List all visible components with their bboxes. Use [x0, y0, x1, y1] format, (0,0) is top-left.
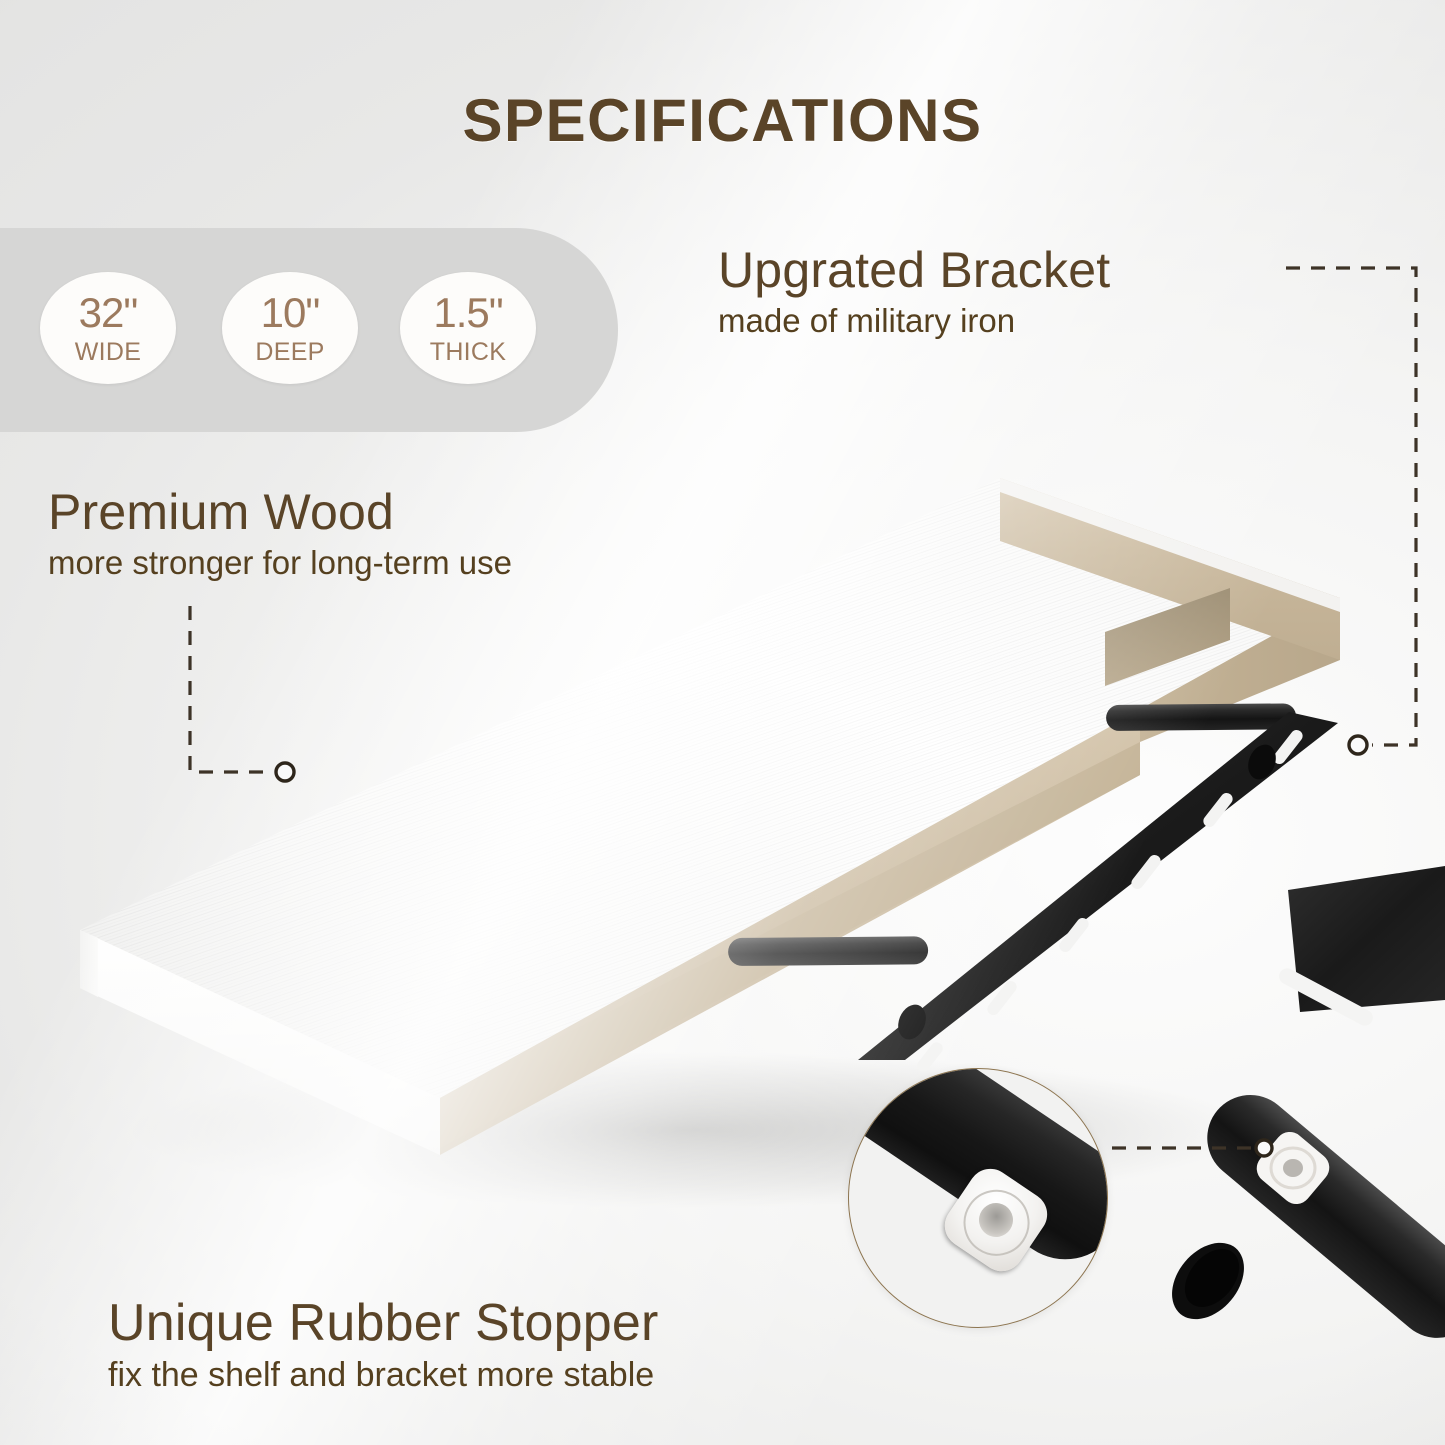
product-photo [0, 0, 1445, 1445]
spec-badge-value: 10" [261, 292, 320, 334]
callout-rubber-stopper: Unique Rubber Stopper fix the shelf and … [108, 1296, 659, 1395]
bracket-rod-lower [728, 936, 928, 966]
callout-upgraded-bracket: Upgrated Bracket made of military iron [718, 244, 1110, 340]
rubber-stopper-zoom-circle [848, 1068, 1108, 1328]
bracket-rod-upper [1106, 703, 1296, 731]
spec-badge-label: THICK [430, 340, 507, 365]
callout-subheading: made of military iron [718, 302, 1110, 340]
page-title: SPECIFICATIONS [0, 86, 1445, 155]
spec-badge-thick: 1.5" THICK [400, 272, 536, 384]
callout-heading: Upgrated Bracket [718, 244, 1110, 297]
callout-subheading: fix the shelf and bracket more stable [108, 1356, 659, 1395]
spec-badge-deep: 10" DEEP [222, 272, 358, 384]
spec-badge-label: DEEP [255, 340, 324, 365]
callout-premium-wood: Premium Wood more stronger for long-term… [48, 486, 512, 582]
spec-badge-value: 1.5" [433, 292, 502, 334]
callout-heading: Premium Wood [48, 486, 512, 539]
spec-badge-value: 32" [79, 292, 138, 334]
spec-badge-label: WIDE [75, 340, 141, 365]
callout-subheading: more stronger for long-term use [48, 544, 512, 582]
infographic-canvas: SPECIFICATIONS 32" WIDE 10" DEEP 1.5" TH… [0, 0, 1445, 1445]
spec-badge-wide: 32" WIDE [40, 272, 176, 384]
callout-heading: Unique Rubber Stopper [108, 1296, 659, 1351]
